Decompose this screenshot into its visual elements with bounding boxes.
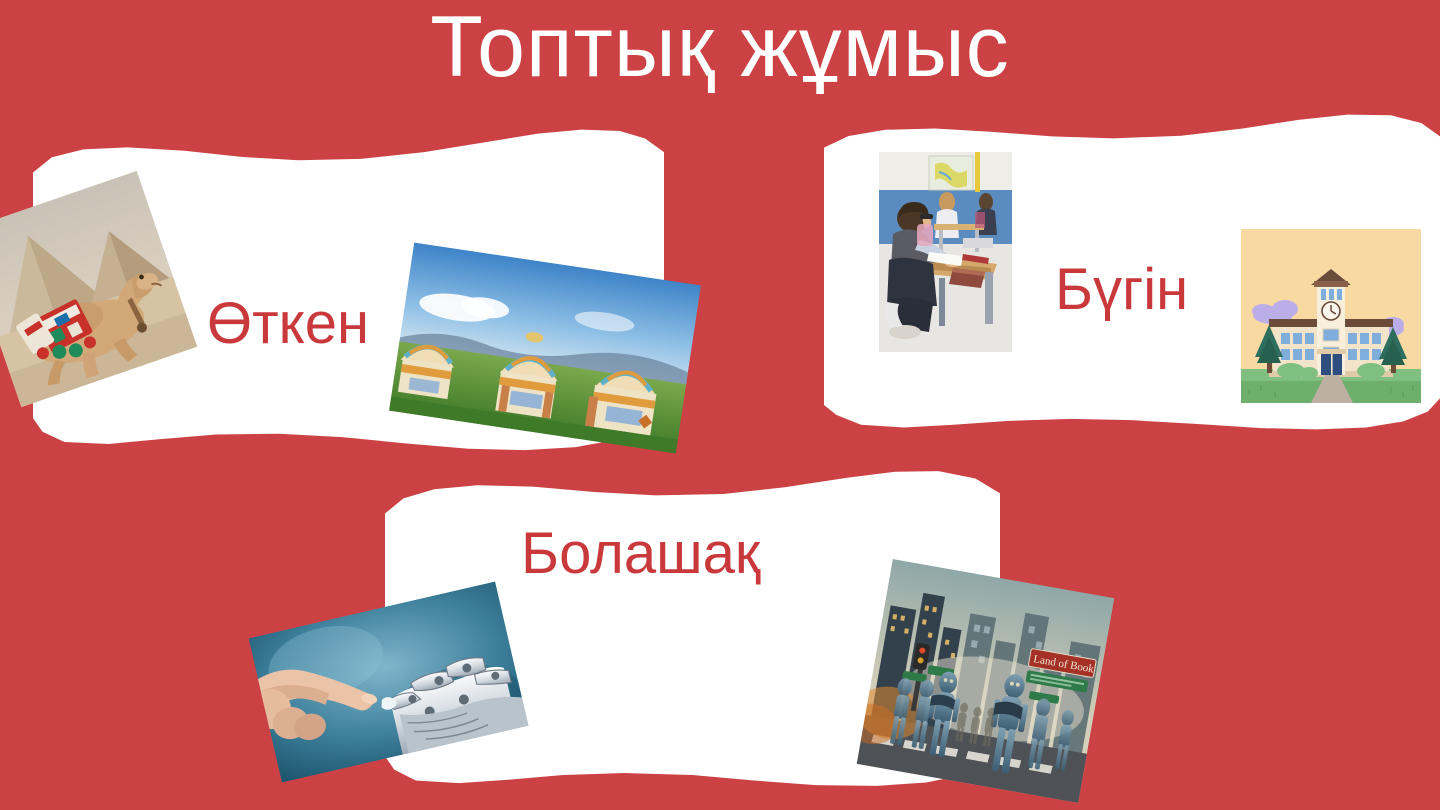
page-title: Топтық жұмыс xyxy=(0,2,1440,92)
card-future-label: Болашақ xyxy=(521,520,721,588)
slide-canvas: Топтық жұмыс Өткен xyxy=(0,0,1440,810)
robot-city-photo: Land of Book xyxy=(857,559,1115,803)
classroom-photo xyxy=(879,152,1012,352)
card-today-label: Бүгін xyxy=(1055,256,1188,324)
school-building-illustration xyxy=(1241,229,1421,403)
card-past-label: Өткен xyxy=(207,290,369,358)
